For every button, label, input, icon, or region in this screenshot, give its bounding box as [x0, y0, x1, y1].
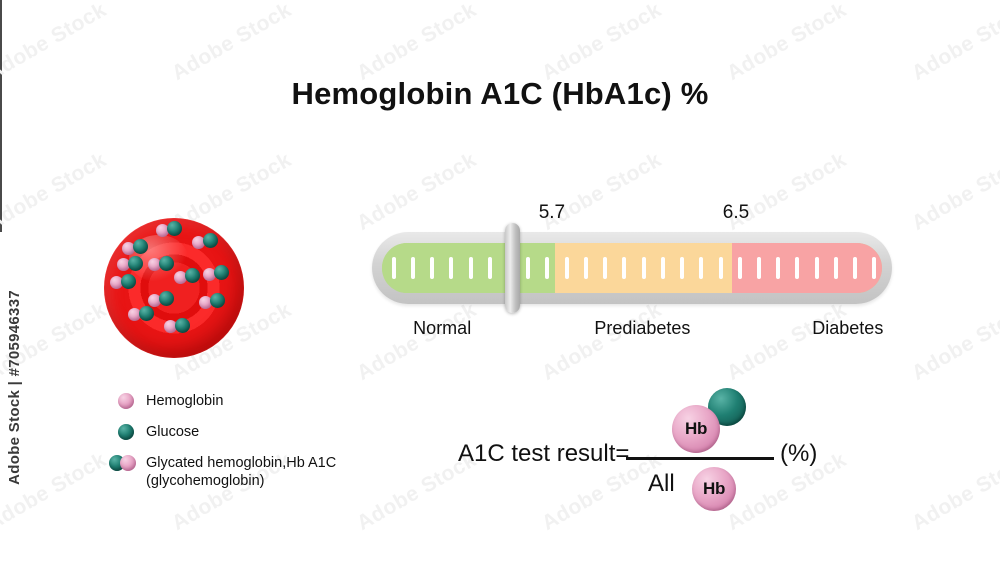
- hb-sphere-label: Hb: [672, 405, 720, 453]
- gauge-tick: [776, 257, 780, 279]
- glucose-sphere: [214, 265, 229, 280]
- watermark-tile: Adobe Stock: [723, 298, 851, 386]
- teal-sphere-icon: [104, 423, 146, 443]
- formula-fraction-bar: [626, 457, 774, 460]
- watermark-tile: Adobe Stock: [353, 298, 481, 386]
- hemoglobin-sphere: [118, 393, 134, 409]
- watermark-tile: Adobe Stock: [908, 448, 1000, 536]
- gauge-tick: [642, 257, 646, 279]
- glucose-sphere: [159, 256, 174, 271]
- legend-item-glucose: Glucose: [104, 423, 404, 443]
- gauge-tick: [795, 257, 799, 279]
- formula-denominator-prefix: All: [648, 470, 675, 498]
- gauge-tick: [584, 257, 588, 279]
- legend-label: Hemoglobin: [146, 392, 223, 410]
- glucose-sphere: [159, 291, 174, 306]
- watermark-tile: Adobe Stock: [538, 0, 666, 86]
- gauge-tick: [738, 257, 742, 279]
- glucose-sphere: [175, 318, 190, 333]
- gauge-tick: [815, 257, 819, 279]
- watermark-tile: Adobe Stock: [0, 0, 111, 86]
- gauge-tick: [526, 257, 530, 279]
- formula-numerator: Hb: [668, 388, 760, 454]
- gauge-slider-handle[interactable]: [505, 223, 520, 313]
- hemoglobin-sphere: [120, 455, 136, 471]
- gauge-tick: [411, 257, 415, 279]
- gauge-tick: [488, 257, 492, 279]
- watermark-tile: Adobe Stock: [538, 298, 666, 386]
- glucose-sphere: [118, 424, 134, 440]
- glucose-sphere: [133, 239, 148, 254]
- formula-unit: (%): [780, 440, 817, 468]
- gauge-tick: [834, 257, 838, 279]
- pink-sphere-icon: [104, 392, 146, 412]
- hemoglobin-sphere: Hb: [672, 405, 720, 453]
- gauge-tick: [392, 257, 396, 279]
- watermark-tile: Adobe Stock: [353, 148, 481, 236]
- gauge-label-diabetes: Diabetes: [812, 318, 883, 339]
- formula-denominator-sphere: Hb: [692, 467, 736, 511]
- watermark-tile: Adobe Stock: [0, 448, 111, 536]
- watermark-divider: [0, 0, 2, 232]
- gauge-tick: [680, 257, 684, 279]
- gauge-tick: [449, 257, 453, 279]
- legend: Hemoglobin Glucose Glycated hemoglobin,H…: [104, 392, 404, 501]
- a1c-gauge: 5.7 6.5 Normal Prediabetes Diabetes: [372, 232, 892, 304]
- hb-sphere-label: Hb: [692, 467, 736, 511]
- gauge-tick: [565, 257, 569, 279]
- legend-label: Glucose: [146, 423, 199, 441]
- watermark-tile: Adobe Stock: [353, 0, 481, 86]
- gauge-tick: [853, 257, 857, 279]
- glucose-sphere: [167, 221, 182, 236]
- a1c-formula: A1C test result= Hb (%) All Hb: [458, 380, 878, 520]
- gauge-label-prediabetes: Prediabetes: [594, 318, 690, 339]
- gauge-tick: [661, 257, 665, 279]
- gauge-tick: [622, 257, 626, 279]
- infographic-canvas: Adobe Stock Adobe Stock Adobe Stock Adob…: [0, 0, 1000, 581]
- watermark-tile: Adobe Stock: [0, 298, 111, 386]
- gauge-marker-5-7: 5.7: [539, 202, 565, 224]
- watermark-tile: Adobe Stock: [908, 298, 1000, 386]
- watermark-tile: Adobe Stock: [723, 0, 851, 86]
- watermark-credit: Adobe Stock | #705946337: [6, 290, 23, 485]
- watermark-tile: Adobe Stock: [0, 148, 111, 236]
- glucose-sphere: [203, 233, 218, 248]
- gauge-tick: [699, 257, 703, 279]
- gauge-label-normal: Normal: [413, 318, 471, 339]
- gauge-tick: [872, 257, 876, 279]
- glucose-sphere: [121, 274, 136, 289]
- legend-label: Glycated hemoglobin,Hb A1C: [146, 454, 336, 472]
- gauge-marker-6-5: 6.5: [723, 202, 749, 224]
- gauge-ticks: [382, 243, 882, 293]
- glucose-sphere: [128, 256, 143, 271]
- glucose-sphere: [210, 293, 225, 308]
- gauge-tick: [603, 257, 607, 279]
- red-blood-cell-illustration: [104, 218, 244, 358]
- glucose-sphere: [139, 306, 154, 321]
- legend-label-line2: (glycohemoglobin): [146, 472, 336, 490]
- watermark-tile: Adobe Stock: [908, 148, 1000, 236]
- page-title: Hemoglobin A1C (HbA1c) %: [0, 76, 1000, 112]
- formula-lhs: A1C test result=: [458, 440, 629, 468]
- glucose-sphere: [185, 268, 200, 283]
- gauge-tick: [719, 257, 723, 279]
- gauge-tick: [757, 257, 761, 279]
- teal-pink-sphere-pair-icon: [104, 454, 146, 474]
- watermark-tile: Adobe Stock: [908, 0, 1000, 86]
- legend-item-hemoglobin: Hemoglobin: [104, 392, 404, 412]
- gauge-tick: [545, 257, 549, 279]
- gauge-tick: [469, 257, 473, 279]
- gauge-tick: [430, 257, 434, 279]
- watermark-tile: Adobe Stock: [168, 0, 296, 86]
- legend-item-glycated-hemoglobin: Glycated hemoglobin,Hb A1C (glycohemoglo…: [104, 454, 404, 490]
